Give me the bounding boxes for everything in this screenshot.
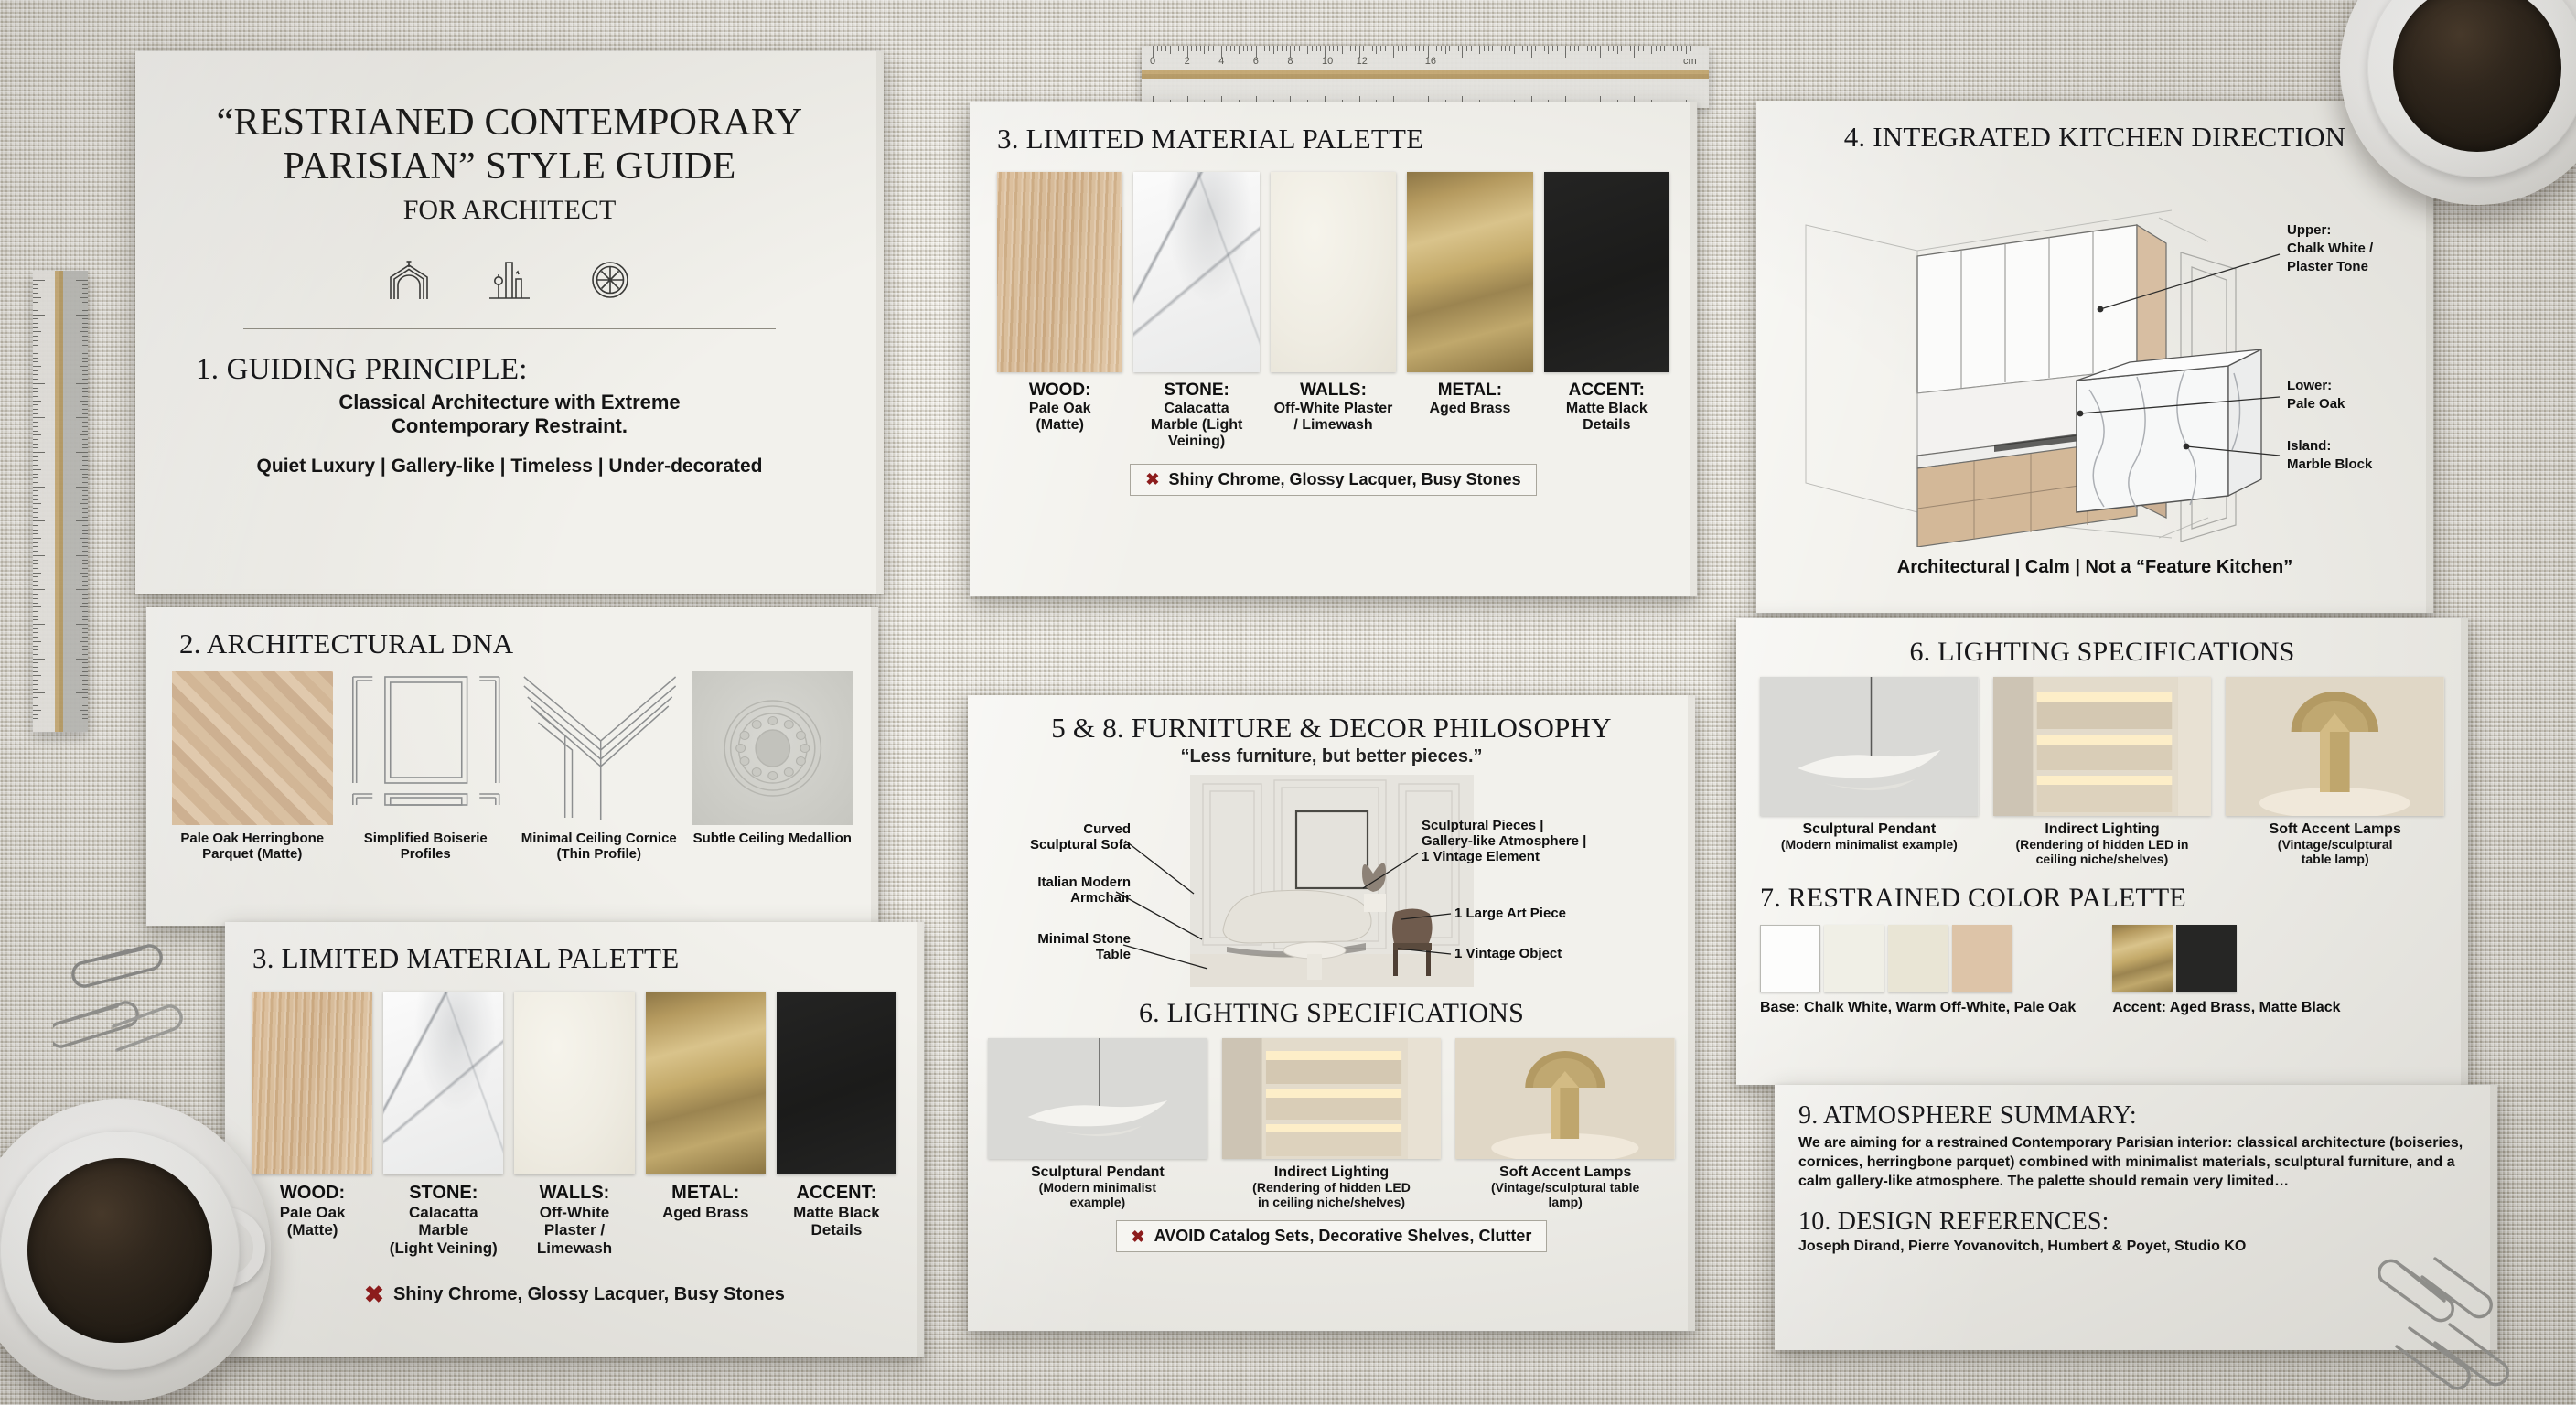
- dna-item: Simplified Boiserie Profiles: [346, 671, 507, 863]
- ceiling-medallion-swatch: [692, 671, 853, 825]
- material-name: ACCENT:: [1569, 381, 1645, 401]
- dna-item-caption: Subtle Ceiling Medallion: [693, 831, 852, 847]
- sculptural-pendant-photo: [988, 1038, 1207, 1159]
- principle-line-2: Contemporary Restraint.: [392, 414, 628, 437]
- material-item: METAL: Aged Brass: [646, 992, 766, 1257]
- medallion-compass-icon: [586, 257, 634, 303]
- material-name: METAL:: [1438, 381, 1502, 401]
- material-desc: Matte BlackDetails: [793, 1204, 879, 1239]
- material-name: ACCENT:: [797, 1183, 877, 1204]
- annotation-upper-line1: Upper:: [2287, 222, 2331, 238]
- color-palette-heading: 7. RESTRAINED COLOR PALETTE: [1760, 883, 2444, 914]
- material-palette-card-top: 3. LIMITED MATERIAL PALETTE WOOD: Pale O…: [970, 102, 1697, 596]
- material-desc: Pale Oak(Matte): [1029, 401, 1091, 434]
- stone-swatch: [1133, 172, 1259, 372]
- material-item: WALLS: Off-WhitePlaster /Limewash: [514, 992, 634, 1257]
- guiding-principle-text: Classical Architecture with Extreme Cont…: [187, 391, 832, 440]
- material-desc: Matte BlackDetails: [1566, 401, 1648, 434]
- base-color-group: Base: Chalk White, Warm Off-White, Pale …: [1760, 925, 2076, 1016]
- material-name: WALLS:: [1300, 381, 1367, 401]
- annotation-line: Gallery-like Atmosphere |: [1422, 833, 1586, 849]
- lighting-row: Sculptural Pendant (Modern minimalist ex…: [1760, 677, 2444, 866]
- lighting-item: Indirect Lighting (Rendering of hidden L…: [1993, 677, 2212, 866]
- wood-swatch: [997, 172, 1122, 372]
- material-name: STONE:: [409, 1183, 478, 1204]
- avoid-note-text: Shiny Chrome, Glossy Lacquer, Busy Stone…: [393, 1284, 785, 1305]
- material-item: METAL: Aged Brass: [1407, 172, 1532, 451]
- annotation-stone-table: Minimal Stone Table: [993, 932, 1131, 963]
- accent-color-caption: Accent: Aged Brass, Matte Black: [2112, 1000, 2340, 1016]
- lighting-title: Sculptural Pendant: [1802, 821, 1936, 838]
- annotation-line: Italian Modern: [1037, 874, 1131, 890]
- architectural-dna-heading: 2. ARCHITECTURAL DNA: [179, 627, 853, 660]
- material-swatch-row: WOOD: Pale Oak(Matte) STONE: CalacattaMa…: [997, 172, 1669, 451]
- off-white-2-chip: [1888, 925, 1948, 992]
- dna-item-caption: Pale Oak Herringbone Parquet (Matte): [172, 831, 333, 863]
- annotation-curved-sofa: Curved Sculptural Sofa: [993, 822, 1131, 853]
- sculptural-pendant-photo: [1760, 677, 1979, 816]
- atmosphere-summary-body: We are aiming for a restrained Contempor…: [1798, 1134, 2474, 1191]
- wood-swatch: [252, 992, 372, 1174]
- annotation-line: 1 Vintage Element: [1422, 849, 1540, 864]
- cover-icon-row: [187, 257, 832, 303]
- lighting-sub: (Vintage/sculpturaltable lamp): [2278, 838, 2393, 866]
- accent-color-group: Accent: Aged Brass, Matte Black: [2112, 925, 2340, 1016]
- material-palette-card-bottom: 3. LIMITED MATERIAL PALETTE WOOD: Pale O…: [225, 922, 924, 1357]
- annotation-lower-line1: Lower:: [2287, 378, 2332, 393]
- annotation-vintage-object: 1 Vintage Object: [1454, 947, 1562, 962]
- material-name: STONE:: [1164, 381, 1229, 401]
- material-desc: Aged Brass: [1429, 401, 1510, 417]
- brass-table-lamp-photo: [1455, 1038, 1675, 1159]
- lighting-title: Soft Accent Lamps: [2270, 821, 2401, 838]
- kitchen-direction-card: 4. INTEGRATED KITCHEN DIRECTION: [1756, 101, 2433, 613]
- material-item: STONE: CalacattaMarble (LightVeining): [1133, 172, 1259, 451]
- furniture-philosophy-card: 5 & 8. FURNITURE & DECOR PHILOSOPHY “Les…: [968, 695, 1695, 1331]
- accent-swatch: [1544, 172, 1669, 372]
- architectural-dna-grid: Pale Oak Herringbone Parquet (Matte): [172, 671, 853, 863]
- matte-black-chip: [2176, 925, 2237, 992]
- annotation-line: Sculptural Sofa: [1030, 837, 1131, 853]
- walls-swatch: [1271, 172, 1396, 372]
- lighting-item: Sculptural Pendant (Modern minimalist ex…: [1760, 677, 1979, 866]
- indirect-led-niche-photo: [1993, 677, 2212, 816]
- material-item: WOOD: Pale Oak(Matte): [252, 992, 372, 1257]
- lighting-sub: (Modern minimalistexample): [1039, 1181, 1156, 1209]
- arch-building-icon: [385, 257, 433, 303]
- lighting-title: Soft Accent Lamps: [1499, 1164, 1631, 1181]
- principle-line-1: Classical Architecture with Extreme: [338, 391, 680, 413]
- furniture-diagram: Curved Sculptural Sofa Italian Modern Ar…: [988, 775, 1675, 987]
- material-name: METAL:: [671, 1183, 739, 1204]
- divider: [243, 328, 776, 329]
- title-line-2: PARISIAN” STYLE GUIDE: [284, 145, 736, 188]
- material-desc: Off-White Plaster/ Limewash: [1274, 401, 1393, 434]
- material-item: ACCENT: Matte BlackDetails: [1544, 172, 1669, 451]
- avoid-note-text: Shiny Chrome, Glossy Lacquer, Busy Stone…: [1168, 470, 1520, 489]
- material-name: WOOD:: [280, 1183, 345, 1204]
- annotation-large-art: 1 Large Art Piece: [1454, 906, 1566, 922]
- pale-oak-chip: [1952, 925, 2012, 992]
- walls-swatch: [514, 992, 634, 1174]
- annotation-island-line2: Marble Block: [2287, 456, 2373, 472]
- avoid-note: ✖ Shiny Chrome, Glossy Lacquer, Busy Sto…: [1130, 464, 1536, 496]
- title-line-1: “RESTRIANED CONTEMPORARY: [217, 102, 803, 144]
- architectural-dna-card: 2. ARCHITECTURAL DNA Pale Oak Herringbon…: [146, 607, 878, 926]
- metal-swatch: [1407, 172, 1532, 372]
- atmosphere-summary-heading: 9. ATMOSPHERE SUMMARY:: [1798, 1101, 2474, 1131]
- city-skyline-icon: [486, 257, 533, 303]
- lighting-color-card: 6. LIGHTING SPECIFICATIONS Sculptural Pe…: [1736, 618, 2468, 1085]
- annotation-italian-armchair: Italian Modern Armchair: [993, 875, 1131, 906]
- cover-subtitle: FOR ARCHITECT: [187, 195, 832, 226]
- annotation-upper-line3: Plaster Tone: [2287, 259, 2368, 274]
- material-item: ACCENT: Matte BlackDetails: [777, 992, 896, 1257]
- kitchen-annotation: Upper: Chalk White / Plaster Tone Lower:…: [2287, 222, 2374, 472]
- lighting-item: Soft Accent Lamps (Vintage/sculpturaltab…: [2226, 677, 2444, 866]
- lighting-sub: (Rendering of hidden LED inceiling niche…: [2016, 838, 2189, 866]
- annotation-upper-line2: Chalk White /: [2287, 241, 2374, 256]
- material-desc: CalacattaMarble (LightVeining): [1151, 401, 1242, 451]
- lighting-item: Soft Accent Lamps (Vintage/sculptural ta…: [1455, 1038, 1675, 1209]
- kitchen-footer: Architectural | Calm | Not a “Feature Ki…: [1778, 557, 2411, 578]
- guiding-principle-heading: 1. GUIDING PRINCIPLE:: [196, 353, 832, 387]
- lighting-avoid-note: ✖ AVOID Catalog Sets, Decorative Shelves…: [1116, 1220, 1548, 1252]
- lighting-title: Indirect Lighting: [1274, 1164, 1389, 1181]
- dna-item: Subtle Ceiling Medallion: [692, 671, 853, 847]
- brass-table-lamp-photo: [2226, 677, 2444, 816]
- material-swatch-row: WOOD: Pale Oak(Matte) STONE: CalacattaMa…: [252, 992, 896, 1257]
- herringbone-parquet-swatch: [172, 671, 333, 825]
- kitchen-heading: 4. INTEGRATED KITCHEN DIRECTION: [1778, 121, 2411, 154]
- warm-off-white-chip: [1824, 925, 1884, 992]
- page-title: “RESTRIANED CONTEMPORARY PARISIAN” STYLE…: [187, 101, 832, 189]
- furniture-heading: 5 & 8. FURNITURE & DECOR PHILOSOPHY: [988, 712, 1675, 745]
- material-item: WALLS: Off-White Plaster/ Limewash: [1271, 172, 1396, 451]
- accent-swatch: [777, 992, 896, 1174]
- material-palette-heading: 3. LIMITED MATERIAL PALETTE: [252, 942, 896, 975]
- lighting-sub: (Vintage/sculptural tablelamp): [1491, 1181, 1639, 1209]
- annotation-line: Minimal Stone: [1037, 931, 1131, 947]
- material-item: WOOD: Pale Oak(Matte): [997, 172, 1122, 451]
- metal-swatch: [646, 992, 766, 1174]
- lighting-row: Sculptural Pendant (Modern minimalistexa…: [988, 1038, 1675, 1209]
- annotation-line: Curved: [1083, 821, 1131, 837]
- material-desc: CalacattaMarble(Light Veining): [390, 1204, 498, 1257]
- chalk-white-chip: [1760, 925, 1820, 992]
- design-references-list: Joseph Dirand, Pierre Yovanovitch, Humbe…: [1798, 1239, 2474, 1255]
- base-color-caption: Base: Chalk White, Warm Off-White, Pale …: [1760, 1000, 2076, 1016]
- annotation-lower-line2: Pale Oak: [2287, 396, 2345, 412]
- indirect-led-niche-photo: [1222, 1038, 1442, 1159]
- lighting-sub: (Rendering of hidden LEDin ceiling niche…: [1252, 1181, 1411, 1209]
- material-palette-heading: 3. LIMITED MATERIAL PALETTE: [997, 123, 1669, 156]
- lighting-heading: 6. LIGHTING SPECIFICATIONS: [988, 998, 1675, 1029]
- dna-item-caption: Simplified Boiserie Profiles: [346, 831, 507, 863]
- stone-swatch: [383, 992, 503, 1174]
- annotation-island-line1: Island:: [2287, 438, 2331, 454]
- material-item: STONE: CalacattaMarble(Light Veining): [383, 992, 503, 1257]
- dna-item-caption: Minimal Ceiling Cornice (Thin Profile): [519, 831, 680, 863]
- avoid-note: ✖ Shiny Chrome, Glossy Lacquer, Busy Sto…: [349, 1277, 800, 1312]
- x-mark-icon: ✖: [1145, 471, 1159, 488]
- lighting-title: Indirect Lighting: [2045, 821, 2159, 838]
- aged-brass-chip: [2112, 925, 2173, 992]
- cover-keywords: Quiet Luxury | Gallery-like | Timeless |…: [187, 456, 832, 477]
- kitchen-sketch: Upper: Chalk White / Plaster Tone Lower:…: [1778, 154, 2411, 552]
- annotation-sculptural-pieces: Sculptural Pieces | Gallery-like Atmosph…: [1422, 819, 1674, 864]
- x-mark-icon: ✖: [1132, 1228, 1145, 1245]
- lighting-heading: 6. LIGHTING SPECIFICATIONS: [1760, 637, 2444, 668]
- material-desc: Aged Brass: [662, 1204, 748, 1221]
- lighting-item: Sculptural Pendant (Modern minimalistexa…: [988, 1038, 1207, 1209]
- color-palette-row: Base: Chalk White, Warm Off-White, Pale …: [1760, 925, 2444, 1016]
- material-name: WOOD:: [1029, 381, 1091, 401]
- lighting-item: Indirect Lighting (Rendering of hidden L…: [1222, 1038, 1442, 1209]
- design-references-heading: 10. DESIGN REFERENCES:: [1798, 1207, 2474, 1237]
- material-desc: Off-WhitePlaster /Limewash: [537, 1204, 612, 1257]
- boiserie-profile-drawing: [346, 671, 507, 825]
- lighting-avoid-text: AVOID Catalog Sets, Decorative Shelves, …: [1154, 1227, 1532, 1246]
- x-mark-icon: ✖: [364, 1282, 384, 1306]
- annotation-line: Sculptural Pieces |: [1422, 818, 1543, 833]
- furniture-quote: “Less furniture, but better pieces.”: [988, 746, 1675, 767]
- annotation-line: Table: [1096, 947, 1131, 962]
- lighting-sub: (Modern minimalist example): [1781, 838, 1958, 853]
- material-name: WALLS:: [540, 1183, 610, 1204]
- lighting-title: Sculptural Pendant: [1031, 1164, 1165, 1181]
- annotation-line: Armchair: [1070, 890, 1131, 906]
- atmosphere-summary-card: 9. ATMOSPHERE SUMMARY: We are aiming for…: [1775, 1085, 2497, 1350]
- cover-card: “RESTRIANED CONTEMPORARY PARISIAN” STYLE…: [135, 51, 884, 594]
- material-desc: Pale Oak(Matte): [280, 1204, 346, 1239]
- ceiling-cornice-drawing: [519, 671, 680, 825]
- dna-item: Pale Oak Herringbone Parquet (Matte): [172, 671, 333, 863]
- dna-item: Minimal Ceiling Cornice (Thin Profile): [519, 671, 680, 863]
